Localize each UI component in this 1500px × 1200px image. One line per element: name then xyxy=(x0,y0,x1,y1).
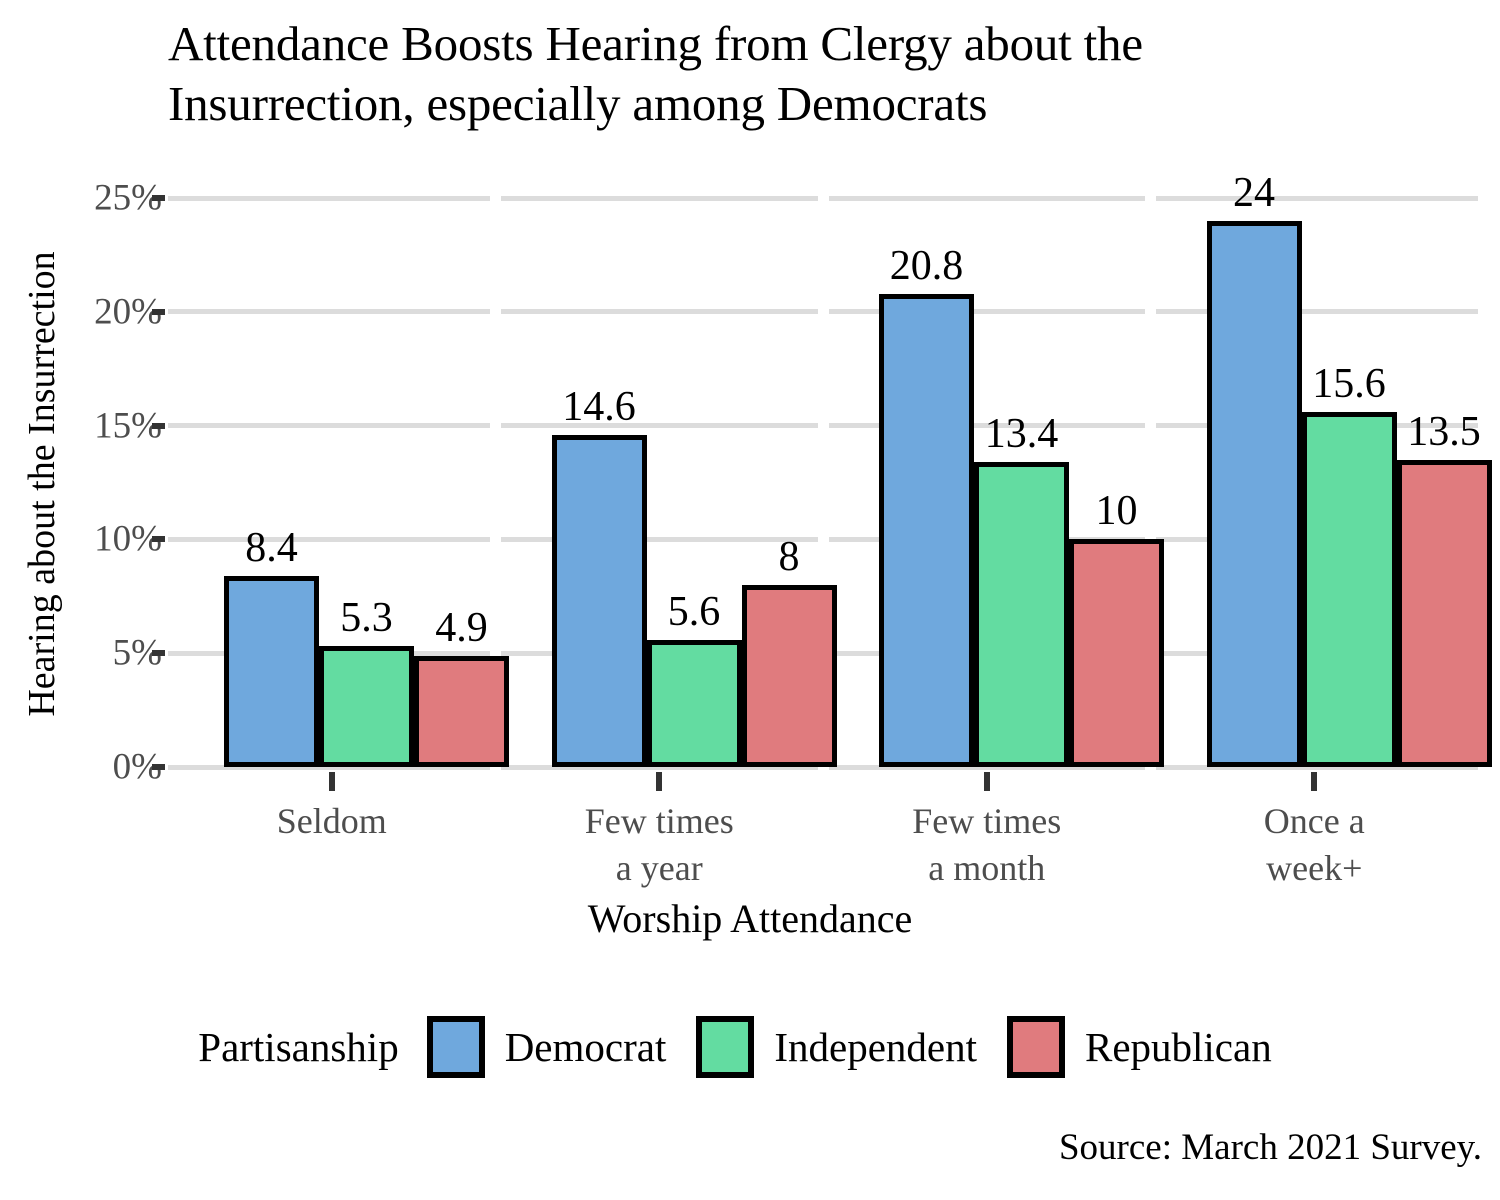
panel-gap xyxy=(490,423,501,428)
y-tick-label: 10% xyxy=(22,518,162,561)
bar-republican-0[interactable] xyxy=(414,656,509,767)
bar-value-label: 5.6 xyxy=(668,588,721,636)
bar-independent-2[interactable] xyxy=(974,462,1069,767)
bar-republican-3[interactable] xyxy=(1397,460,1492,767)
panel-gap xyxy=(490,537,501,542)
bar-independent-0[interactable] xyxy=(319,646,414,767)
y-tick-mark xyxy=(152,536,165,542)
x-tick-label: Few timesa month xyxy=(837,798,1137,892)
x-tick-mark xyxy=(656,772,662,791)
bar-value-label: 20.8 xyxy=(890,242,964,290)
y-tick-label: 0% xyxy=(22,746,162,789)
bar-democrat-2[interactable] xyxy=(879,294,974,767)
panel-gap xyxy=(1145,423,1156,428)
bar-value-label: 13.4 xyxy=(985,410,1059,458)
source-caption: Source: March 2021 Survey. xyxy=(1059,1126,1482,1169)
bar-republican-2[interactable] xyxy=(1069,539,1164,767)
legend-title: Partisanship xyxy=(198,1023,398,1071)
panel-gap xyxy=(818,196,829,201)
legend-item-independent[interactable]: Independent xyxy=(696,1016,977,1078)
bar-value-label: 5.3 xyxy=(340,594,393,642)
legend-swatch-independent xyxy=(696,1016,754,1078)
legend-item-republican[interactable]: Republican xyxy=(1007,1016,1272,1078)
bar-value-label: 8 xyxy=(779,533,800,581)
bar-democrat-1[interactable] xyxy=(552,435,647,767)
panel-gap xyxy=(1145,309,1156,314)
bar-democrat-3[interactable] xyxy=(1207,221,1302,767)
x-tick-mark xyxy=(1311,772,1317,791)
bar-value-label: 13.5 xyxy=(1407,408,1481,456)
chart-legend: Partisanship Democrat Independent Republ… xyxy=(0,1016,1500,1078)
y-axis-title: Hearing about the Insurrection xyxy=(20,174,64,794)
y-tick-mark xyxy=(152,309,165,315)
y-tick-label: 25% xyxy=(22,177,162,220)
panel-gap xyxy=(490,309,501,314)
x-tick-mark xyxy=(329,772,335,791)
bar-value-label: 10 xyxy=(1096,487,1138,535)
x-axis-title: Worship Attendance xyxy=(0,895,1500,942)
y-tick-mark xyxy=(152,423,165,429)
x-tick-label: Once aweek+ xyxy=(1164,798,1464,892)
panel-gap xyxy=(818,309,829,314)
legend-item-democrat[interactable]: Democrat xyxy=(427,1016,667,1078)
legend-label-democrat: Democrat xyxy=(505,1023,667,1071)
y-tick-mark xyxy=(152,650,165,656)
bar-independent-1[interactable] xyxy=(647,640,742,767)
bar-value-label: 14.6 xyxy=(562,383,636,431)
bar-independent-3[interactable] xyxy=(1302,412,1397,767)
panel-gap xyxy=(490,196,501,201)
plot-area: 0%5%10%15%20%25%8.45.34.914.65.6820.813.… xyxy=(168,180,1478,767)
y-tick-label: 20% xyxy=(22,290,162,333)
legend-label-independent: Independent xyxy=(774,1023,977,1071)
bar-value-label: 24 xyxy=(1233,169,1275,217)
panel-gap xyxy=(1145,196,1156,201)
legend-swatch-republican xyxy=(1007,1016,1065,1078)
bar-value-label: 15.6 xyxy=(1312,360,1386,408)
bar-value-label: 8.4 xyxy=(245,524,298,572)
panel-gap xyxy=(818,423,829,428)
page-title: Attendance Boosts Hearing from Clergy ab… xyxy=(168,14,1368,134)
y-tick-mark xyxy=(152,195,165,201)
bar-republican-1[interactable] xyxy=(742,585,837,767)
x-tick-label: Seldom xyxy=(182,798,482,845)
x-tick-label: Few timesa year xyxy=(509,798,809,892)
y-tick-label: 15% xyxy=(22,404,162,447)
bar-value-label: 4.9 xyxy=(435,604,488,652)
legend-swatch-democrat xyxy=(427,1016,485,1078)
y-tick-mark xyxy=(152,764,165,770)
y-tick-label: 5% xyxy=(22,632,162,675)
x-tick-mark xyxy=(984,772,990,791)
bar-democrat-0[interactable] xyxy=(224,576,319,767)
legend-label-republican: Republican xyxy=(1085,1023,1272,1071)
panel-gap xyxy=(818,537,829,542)
